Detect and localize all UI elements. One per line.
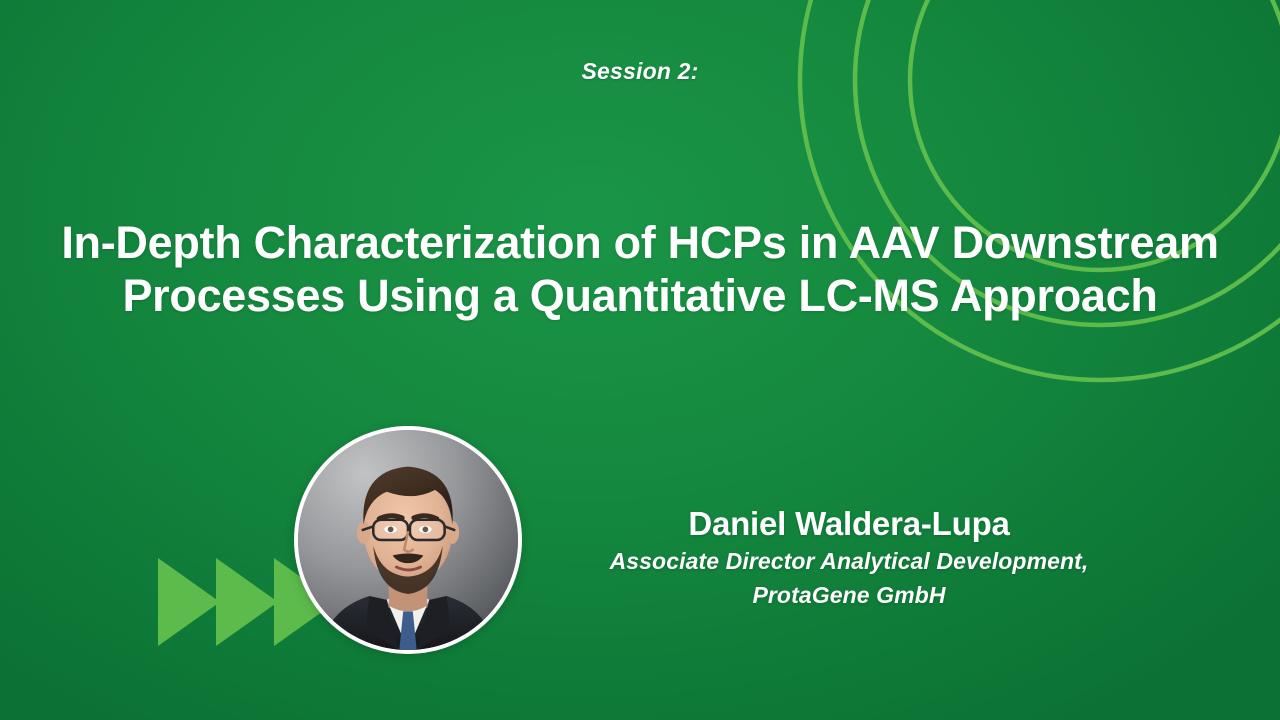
speaker-organization: ProtaGene GmbH	[556, 578, 1142, 612]
speaker-info: Daniel Waldera-Lupa Associate Director A…	[556, 504, 1142, 612]
avatar	[294, 426, 522, 654]
session-label: Session 2:	[0, 58, 1280, 85]
title-slide: Session 2: In-Depth Characterization of …	[0, 0, 1280, 720]
title-line-2: Processes Using a Quantitative LC-MS App…	[50, 269, 1230, 322]
title-line-1: In-Depth Characterization of HCPs in AAV…	[50, 216, 1230, 269]
speaker-role-line-1: Associate Director Analytical Developmen…	[556, 544, 1142, 578]
speaker-name: Daniel Waldera-Lupa	[556, 504, 1142, 544]
page-title: In-Depth Characterization of HCPs in AAV…	[50, 216, 1230, 322]
speaker-photo	[298, 430, 518, 650]
speaker-role: Associate Director Analytical Developmen…	[556, 544, 1142, 612]
